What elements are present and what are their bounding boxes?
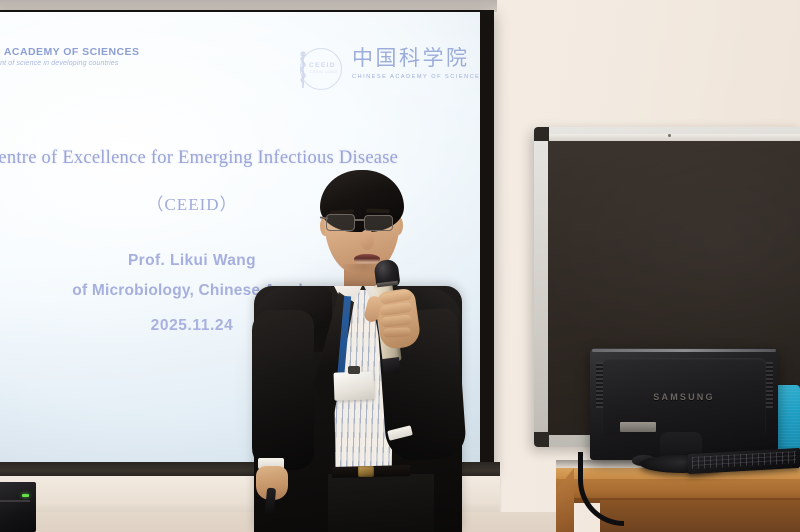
twas-logo: LD ACADEMY OF SCIENCES ement of science …	[0, 46, 151, 67]
speaker-arm-left	[252, 310, 314, 470]
glasses-lens-left	[326, 214, 355, 231]
cas-english-name: CHINESE ACADEMY OF SCIENCES	[352, 74, 480, 80]
speaker-eyebrow-right	[366, 209, 390, 214]
glasses-bridge	[355, 219, 364, 221]
blackboard-screw	[668, 134, 671, 137]
slide-header: LD ACADEMY OF SCIENCES ement of science …	[0, 26, 480, 74]
ceeid-logo-subtext: CEEID LOGO	[310, 70, 337, 74]
monitor-spec-sticker	[620, 422, 656, 432]
speaker-finger-little	[383, 327, 411, 337]
power-led-icon	[22, 494, 29, 497]
speaker-glasses	[320, 214, 406, 234]
blackboard-corner-bottom-left	[534, 432, 549, 447]
microphone-base	[382, 357, 401, 375]
badge-clip	[348, 366, 360, 374]
twas-tagline: ement of science in developing countries	[0, 60, 151, 67]
presentation-photo-scene: LD ACADEMY OF SCIENCES ement of science …	[0, 0, 800, 532]
cas-chinese-name: 中国科学院	[352, 42, 480, 72]
glasses-lens-right	[364, 215, 393, 231]
monitor-top-edge	[592, 349, 776, 352]
speaker-name-badge	[334, 371, 375, 400]
ceeid-logo: CEEID CEEID LOGO	[292, 44, 344, 94]
speaker-belt-buckle	[358, 466, 374, 477]
speaker-trousers	[328, 474, 434, 532]
blackboard-corner-top-left	[534, 127, 549, 141]
cabinet-slot	[0, 500, 30, 502]
glasses-temple	[320, 216, 328, 219]
equipment-cabinet	[0, 482, 36, 532]
twas-name: LD ACADEMY OF SCIENCES	[0, 46, 151, 58]
monitor-brand-label: SAMSUNG	[590, 392, 778, 402]
cas-logo: 中国科学院 CHINESE ACADEMY OF SCIENCES	[352, 42, 480, 80]
ceeid-logo-text: CEEID	[309, 62, 336, 69]
speaker	[236, 160, 486, 532]
keyboard-keys	[692, 451, 796, 469]
desk-leg	[600, 500, 800, 532]
